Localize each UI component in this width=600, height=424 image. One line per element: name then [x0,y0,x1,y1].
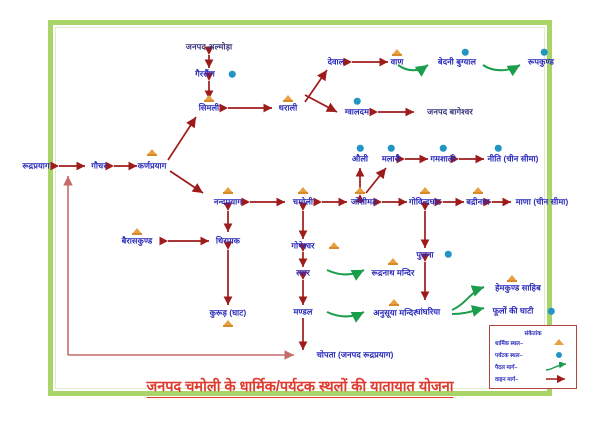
legend-label-foot-route: पैदल मार्ग– [495,363,518,371]
tourist-dot-icon [357,145,364,152]
religious-triangle-icon [420,187,430,193]
religious-triangle-icon [283,95,293,101]
legend-box: संकेतांक धार्मिक स्थल– पर्यटक स्थल– पैदल… [489,325,577,389]
node-malari: मलारी [382,154,400,165]
religious-triangle-icon [389,299,399,305]
legend-row-foot-route: पैदल मार्ग– [495,362,576,373]
node-gairsain: गैरसैंण [195,69,215,80]
node-wan: वाण [391,57,404,68]
node-karnaprayag: कर्णप्रयाग [138,161,167,172]
node-dewal: देवाल [328,57,345,68]
religious-triangle-icon [388,258,398,264]
tourist-dot-icon [440,145,447,152]
tourist-dot-icon [495,145,502,152]
node-tharali: थराली [279,103,298,114]
tourist-dot-icon [541,49,548,56]
node-gauchar: गौचर [91,161,107,172]
tourist-dot-icon [556,352,562,358]
node-simli: सिमली [199,103,220,114]
tourist-dot-icon [229,71,236,78]
node-mana: माणा (चीन सीमा) [516,197,569,208]
legend-label-religious: धार्मिक स्थल– [495,339,523,347]
node-thirpak: थिरपाक [216,236,240,247]
node-gwaldam: ग्वालदम [345,107,369,118]
tourist-dot-icon [354,98,361,105]
legend-label-vehicle-route: वाहन मार्ग– [495,375,518,383]
legend-row-tourist: पर्यटक स्थल– [495,350,576,361]
tourist-dot-icon [548,308,555,315]
node-roopkund: रूपकुण्ड [528,57,554,68]
tourist-dot-icon [388,145,395,152]
node-anusuya-mandir: अनुसूया मन्दिर [373,308,417,319]
node-sagar: सगर [296,268,310,279]
religious-triangle-icon [223,187,233,193]
legend-row-religious: धार्मिक स्थल– [495,338,576,349]
religious-triangle-icon [392,49,402,55]
legend-label-tourist: पर्यटक स्थल– [495,351,523,359]
node-joshimath: जोशीमठ [351,197,377,208]
foot-route-arrow-icon [544,362,570,372]
node-hemkund-sahib: हेमकुण्ड साहिब [495,283,541,294]
legend-heading: संकेतांक [490,329,576,337]
tourist-dot-icon [462,49,469,56]
node-almora: जनपद अल्मोड़ा [186,42,232,53]
node-nandaprayag: नन्दप्रयाग [214,197,242,208]
religious-triangle-icon [554,339,564,345]
node-bedni-bugyal: बेदनी बुग्याल [438,57,476,68]
node-bairaskund: बैरासकुण्ड [122,236,153,247]
religious-triangle-icon [204,95,214,101]
node-mandal: मण्डल [293,307,312,318]
religious-triangle-icon [507,275,517,281]
page-title: जनपद चमोली के धार्मिक/पर्यटक स्थलों की य… [146,376,453,398]
religious-triangle-icon [329,242,339,248]
node-pulna: पुलना [416,250,433,261]
node-phoolon-ki-ghati: फूलों की घाटी [493,306,534,317]
religious-triangle-icon [147,149,157,155]
node-gamshali: गमशाली [430,154,455,165]
node-kurud: कुरूड़ (घाट) [210,308,247,319]
religious-triangle-icon [223,320,233,326]
node-auli: औली [352,154,368,165]
node-govindghat: गोविन्दघाट [409,197,441,208]
node-gopeshwar: गोपेश्वर [291,241,314,252]
tourist-dot-icon [445,251,452,258]
node-chamoli: चमोली [293,197,313,208]
node-chopta: चोपता (जनपद रूद्रप्रयाग) [317,350,394,361]
node-ghangharia: घांघरिया [416,307,441,318]
node-rudraprayag: रूद्रप्रयाग [22,161,49,172]
vehicle-route-arrow-icon [544,374,570,384]
diagram-page: जनपद अल्मोड़ा गैरसैंण सिमली थराली देवाल … [0,0,600,424]
node-rudranath-mandir: रूद्रनाथ मन्दिर [372,268,415,279]
legend-row-vehicle-route: वाहन मार्ग– [495,374,576,385]
node-niti: नीति (चीन सीमा) [488,154,539,165]
religious-triangle-icon [132,228,142,234]
religious-triangle-icon [298,187,308,193]
node-bageshwar: जनपद बागेश्वर [427,107,473,118]
node-badrinath: बद्रीनाथ [466,197,489,208]
religious-triangle-icon [355,187,365,193]
religious-triangle-icon [473,187,483,193]
